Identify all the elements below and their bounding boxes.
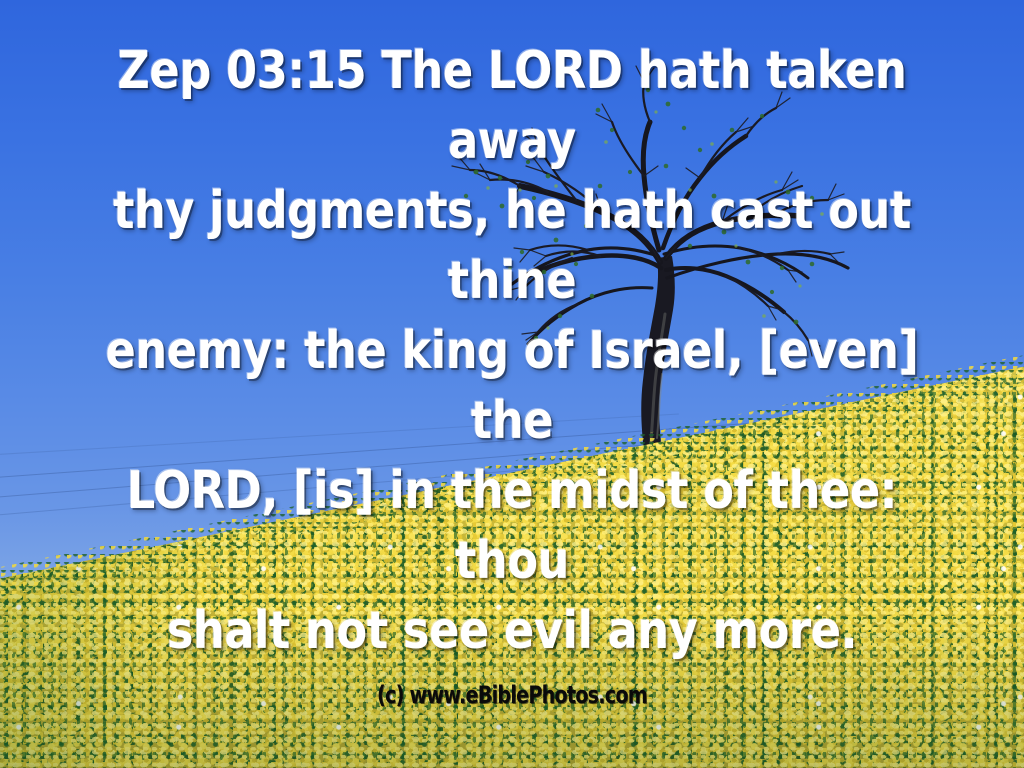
watermark-credit: (c) www.eBiblePhotos.com: [102, 682, 921, 708]
verse-photo: Zep 03:15 The LORD hath taken away thy j…: [0, 0, 1024, 768]
verse-text: Zep 03:15 The LORD hath taken away thy j…: [72, 36, 953, 666]
